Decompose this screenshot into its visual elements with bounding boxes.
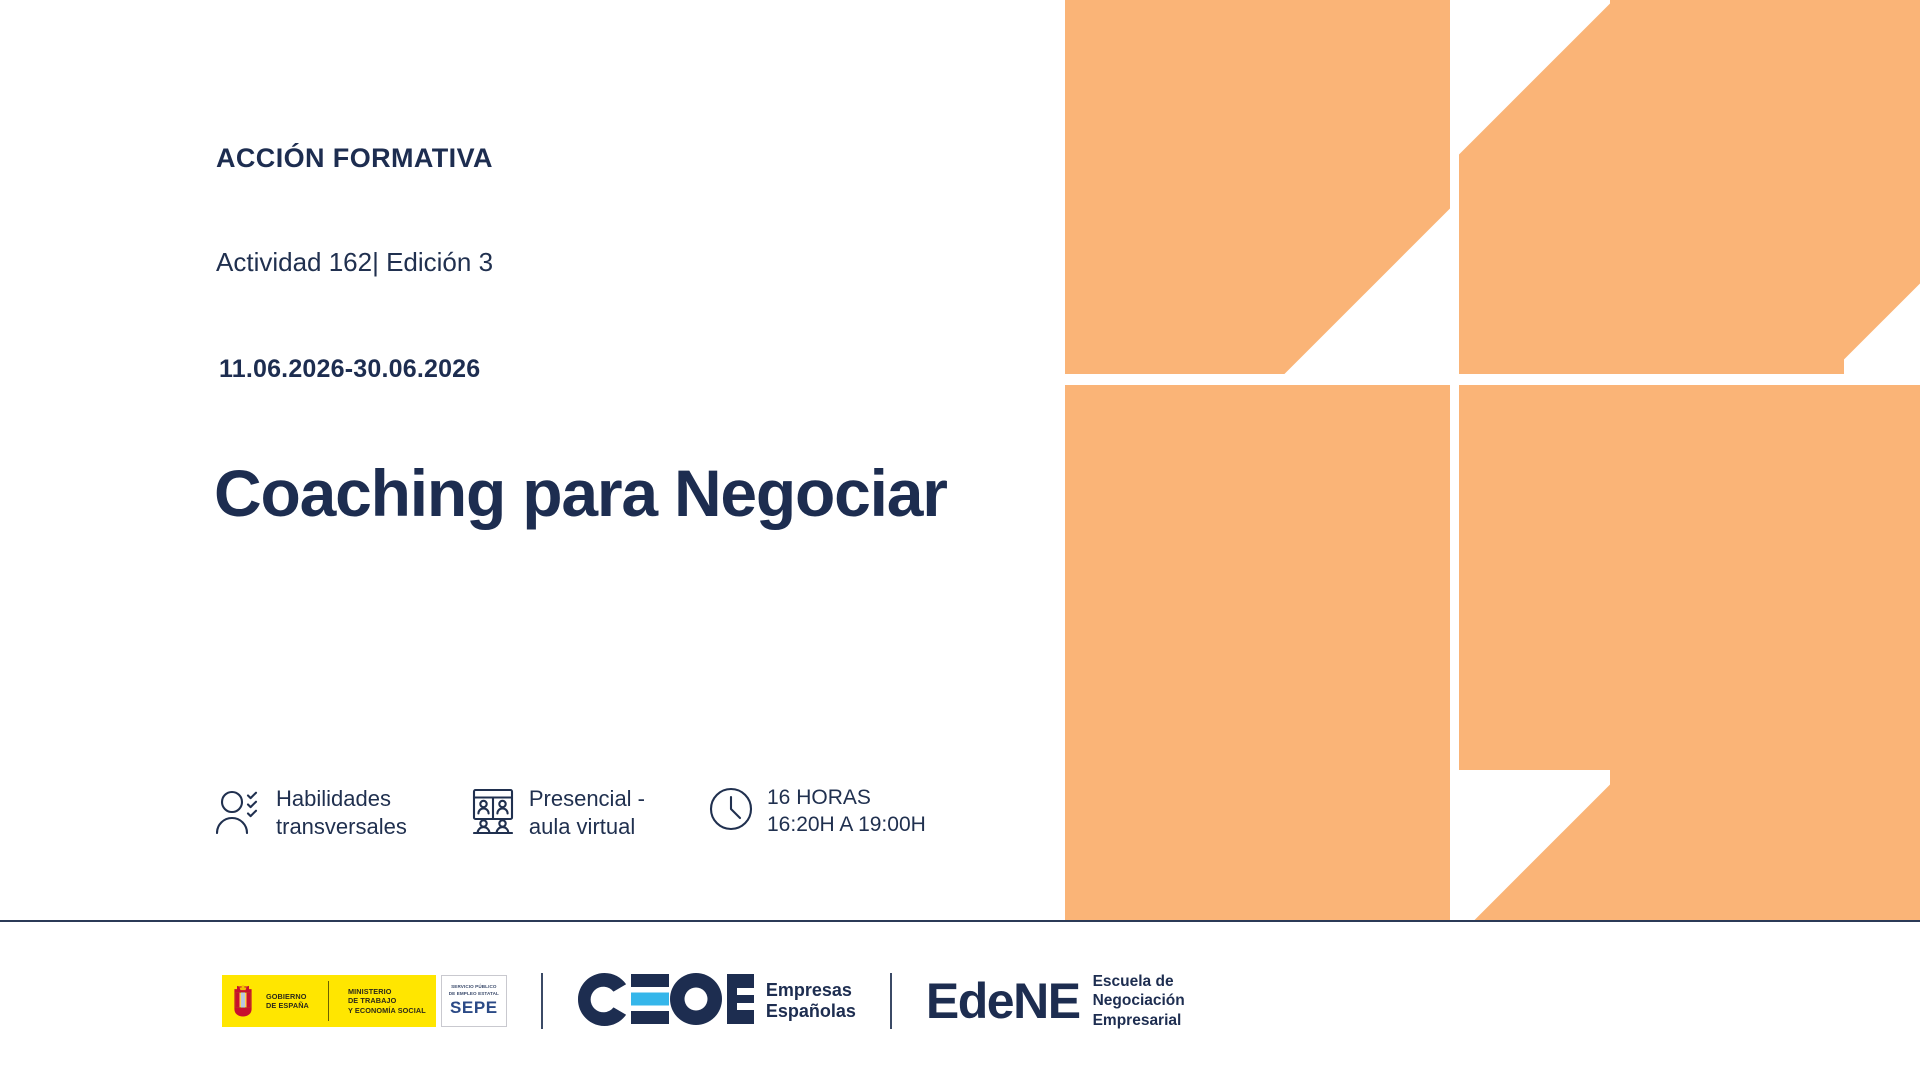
meta-item-label: Presencial - aula virtual xyxy=(529,785,645,841)
decorative-pattern xyxy=(1065,0,1920,920)
gobierno-yellow-block: GOBIERNO DE ESPAÑA MINISTERIO DE TRABAJO… xyxy=(222,975,436,1027)
person-check-icon xyxy=(216,786,262,839)
logo-gobierno-espana: GOBIERNO DE ESPAÑA MINISTERIO DE TRABAJO… xyxy=(222,975,507,1027)
sepe-subtitle: SERVICIO PÚBLICO DE EMPLEO ESTATAL xyxy=(449,984,499,996)
edene-wordmark: EdeNE xyxy=(926,976,1080,1026)
footer-bar: GOBIERNO DE ESPAÑA MINISTERIO DE TRABAJO… xyxy=(0,922,1920,1080)
clock-icon xyxy=(709,787,753,836)
course-meta-row: Habilidades transversales xyxy=(216,785,926,841)
poster-canvas: ACCIÓN FORMATIVA Actividad 162| Edición … xyxy=(0,0,1920,920)
meta-item-modality: Presencial - aula virtual xyxy=(471,785,645,841)
ministerio-label: MINISTERIO DE TRABAJO Y ECONOMÍA SOCIAL xyxy=(348,987,426,1014)
page-title: Coaching para Negociar xyxy=(214,455,947,531)
footer-separator xyxy=(541,973,543,1029)
meta-item-skills: Habilidades transversales xyxy=(216,785,407,841)
gobierno-inner-divider xyxy=(328,981,329,1021)
pattern-tile xyxy=(1065,0,1450,374)
pattern-tile xyxy=(1065,770,1450,920)
meta-item-duration: 16 HORAS 16:20H A 19:00H xyxy=(709,785,926,838)
virtual-classroom-icon xyxy=(471,786,515,839)
ceoe-tagline: Empresas Españolas xyxy=(766,980,856,1022)
meta-item-label: 16 HORAS 16:20H A 19:00H xyxy=(767,785,926,838)
sepe-logo: SERVICIO PÚBLICO DE EMPLEO ESTATAL SEPE xyxy=(441,975,507,1027)
footer-separator xyxy=(890,973,892,1029)
logo-edene: EdeNE Escuela de Negociación Empresarial xyxy=(926,972,1185,1030)
gobierno-label: GOBIERNO DE ESPAÑA xyxy=(266,992,309,1010)
activity-subtitle: Actividad 162| Edición 3 xyxy=(216,247,493,278)
pattern-tile xyxy=(1610,770,1920,920)
edene-tagline: Escuela de Negociación Empresarial xyxy=(1093,972,1185,1030)
kicker-heading: ACCIÓN FORMATIVA xyxy=(216,140,493,177)
meta-item-label: Habilidades transversales xyxy=(276,785,407,841)
logo-ceoe: Empresas Españolas xyxy=(577,972,856,1031)
sepe-wordmark: SEPE xyxy=(450,998,498,1018)
ceoe-wordmark-icon xyxy=(577,972,755,1031)
spain-coat-of-arms-icon xyxy=(230,984,256,1018)
date-range: 11.06.2026-30.06.2026 xyxy=(219,355,480,384)
pattern-tile xyxy=(1610,0,1920,374)
